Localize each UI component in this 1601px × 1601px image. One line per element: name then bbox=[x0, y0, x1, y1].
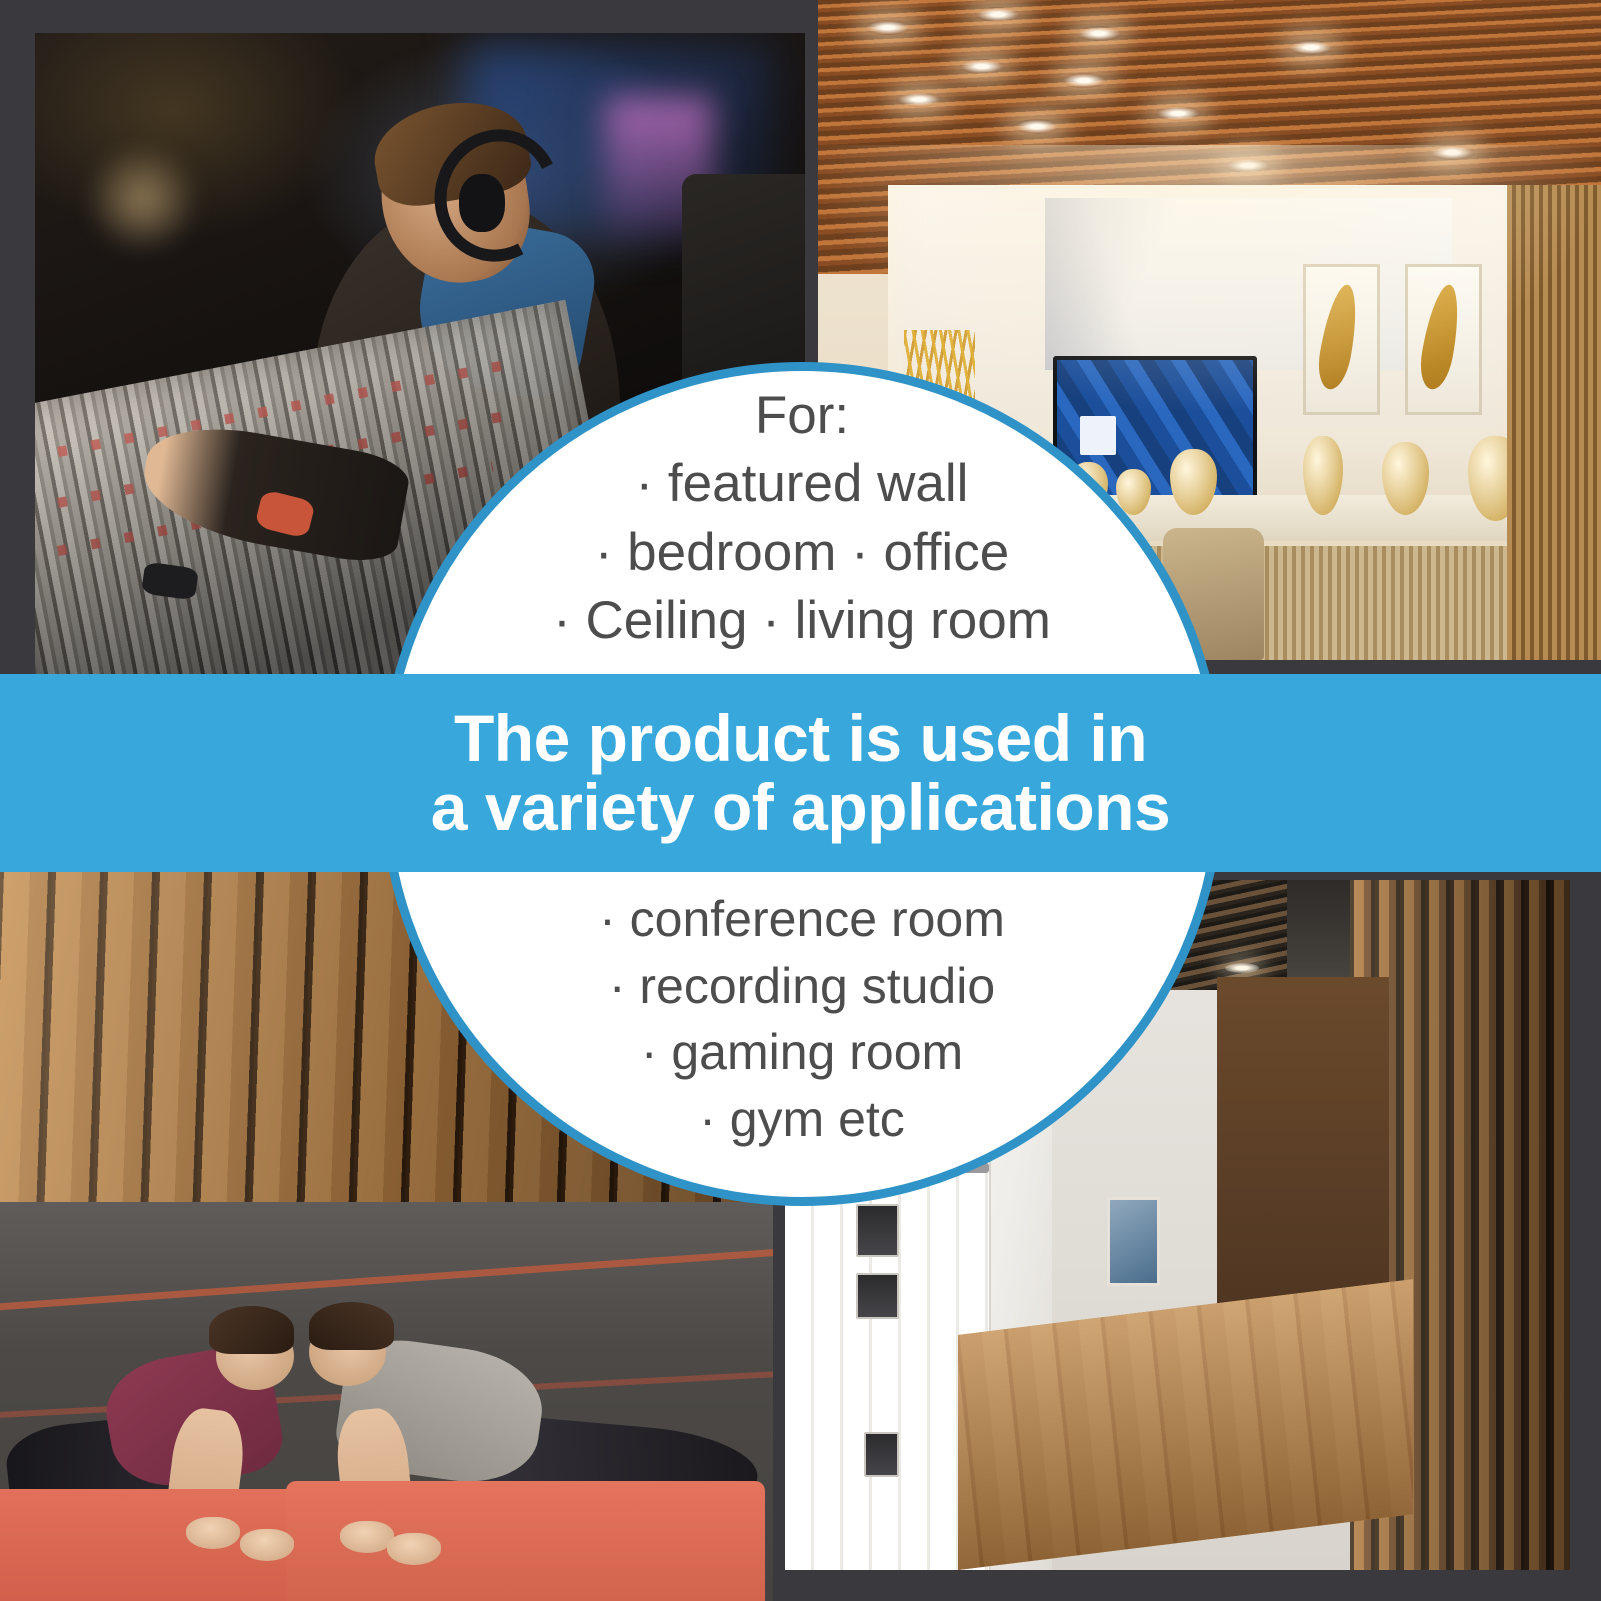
corridor-wall-panel bbox=[856, 1204, 899, 1256]
gym-person-hand bbox=[186, 1517, 240, 1549]
headline-text: The product is used in a variety of appl… bbox=[431, 704, 1170, 841]
office-ceiling-light bbox=[865, 20, 911, 35]
applications-list-bottom: · conference room · recording studio · g… bbox=[380, 872, 1224, 1152]
office-ceiling-light bbox=[975, 7, 1021, 22]
office-side-slat-wall bbox=[1507, 185, 1601, 660]
office-ceiling-light bbox=[1061, 73, 1107, 88]
gym-photo bbox=[0, 1202, 773, 1601]
gym-court-line bbox=[0, 1241, 773, 1313]
office-ceiling-light bbox=[1429, 145, 1475, 160]
gym-person-hair bbox=[209, 1306, 294, 1354]
office-ceiling-light bbox=[1288, 40, 1334, 55]
office-ceiling-light bbox=[1155, 106, 1201, 121]
gym-person-hand bbox=[387, 1533, 441, 1565]
corridor-wall-panel bbox=[864, 1432, 899, 1477]
product-application-infographic: The product is used in a variety of appl… bbox=[0, 0, 1601, 1601]
studio-headphone-earcup bbox=[459, 174, 505, 232]
applications-list-top: For: · featured wall · bedroom · office … bbox=[380, 362, 1224, 655]
headline-banner: The product is used in a variety of appl… bbox=[0, 674, 1601, 872]
office-marble-panel bbox=[1045, 198, 1452, 370]
gym-person-hair bbox=[309, 1302, 394, 1350]
corridor-wall-panel bbox=[856, 1273, 899, 1318]
corridor-wall-art bbox=[1107, 1197, 1160, 1286]
studio-background-lamp bbox=[81, 148, 204, 251]
corridor-downlight bbox=[1225, 963, 1259, 973]
office-ceiling-light bbox=[1014, 119, 1060, 134]
gym-person-hand bbox=[240, 1529, 294, 1561]
